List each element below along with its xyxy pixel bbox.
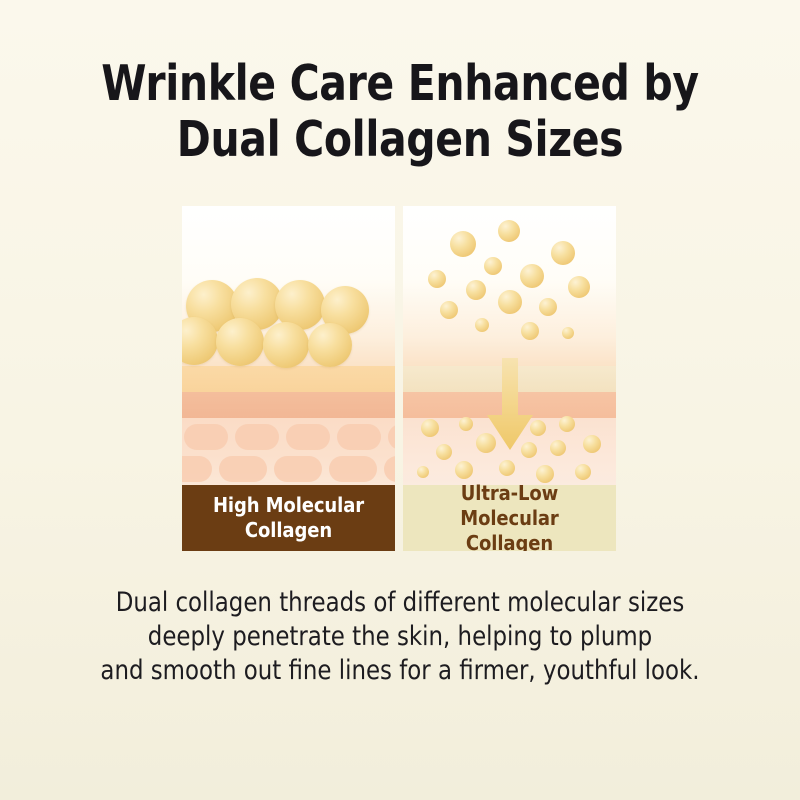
dermis-cell — [337, 424, 381, 450]
collagen-molecule-small — [575, 464, 591, 480]
collagen-molecule-small — [450, 231, 476, 257]
skin-cross-section-left — [182, 206, 395, 485]
skin-layer-epidermis-left — [182, 366, 395, 392]
collagen-molecule-small — [562, 327, 574, 339]
dermis-cell-pattern — [182, 418, 395, 485]
label-line-2: Collagen — [207, 518, 370, 543]
dermis-cell — [329, 456, 377, 482]
description-text: Dual collagen threads of different molec… — [16, 586, 784, 688]
page-title-line-1: Wrinkle Care Enhanced by — [28, 56, 772, 112]
collagen-comparison-diagram: High Molecular Collagen — [182, 206, 616, 551]
collagen-molecule-small — [476, 433, 496, 453]
dermis-cell — [235, 424, 279, 450]
collagen-molecule-large — [308, 323, 352, 367]
dermis-cell — [219, 456, 267, 482]
collagen-molecule-large — [263, 322, 309, 368]
collagen-molecule-small — [455, 461, 473, 479]
collagen-molecule-small — [499, 460, 515, 476]
collagen-molecule-small — [417, 466, 429, 478]
description-line-2: deeply penetrate the skin, helping to pl… — [16, 620, 784, 654]
collagen-molecule-small — [539, 298, 557, 316]
collagen-molecule-small — [551, 241, 575, 265]
description-line-1: Dual collagen threads of different molec… — [16, 586, 784, 620]
collagen-molecule-small — [475, 318, 489, 332]
label-line-1: High Molecular — [207, 493, 370, 518]
collagen-molecule-small — [436, 444, 452, 460]
skin-cross-section-right — [403, 206, 616, 485]
collagen-molecule-small — [550, 440, 566, 456]
collagen-molecule-small — [583, 435, 601, 453]
dermis-cell — [184, 424, 228, 450]
collagen-molecule-small — [428, 270, 446, 288]
collagen-molecule-small — [466, 280, 486, 300]
label-line-1: Ultra-Low Molecular — [409, 481, 610, 531]
collagen-molecule-small — [521, 442, 537, 458]
collagen-molecule-small — [484, 257, 502, 275]
label-line-2: Collagen — [409, 531, 610, 552]
panel-high-molecular-collagen: High Molecular Collagen — [182, 206, 395, 551]
dermis-cell — [384, 456, 395, 482]
collagen-molecule-small — [498, 290, 522, 314]
collagen-molecule-large — [216, 318, 264, 366]
page-title: Wrinkle Care Enhanced by Dual Collagen S… — [28, 56, 772, 168]
dermis-cell — [182, 456, 212, 482]
dermis-cell — [274, 456, 322, 482]
panel-ultra-low-molecular-collagen: Ultra-Low Molecular Collagen — [403, 206, 616, 551]
collagen-molecule-small — [568, 276, 590, 298]
collagen-molecule-small — [440, 301, 458, 319]
collagen-molecule-small — [421, 419, 439, 437]
page-title-line-2: Dual Collagen Sizes — [28, 112, 772, 168]
collagen-molecule-small — [498, 220, 520, 242]
collagen-molecule-small — [559, 416, 575, 432]
description-line-3: and smooth out fine lines for a firmer, … — [16, 654, 784, 688]
dermis-cell — [286, 424, 330, 450]
dermis-cell — [388, 424, 395, 450]
collagen-molecule-small — [520, 264, 544, 288]
label-ultra-low-molecular-collagen: Ultra-Low Molecular Collagen — [403, 485, 616, 551]
label-high-molecular-collagen: High Molecular Collagen — [182, 485, 395, 551]
collagen-molecule-small — [459, 417, 473, 431]
collagen-molecule-small — [521, 322, 539, 340]
skin-layer-upper-dermis-left — [182, 392, 395, 418]
collagen-molecule-small — [530, 420, 546, 436]
